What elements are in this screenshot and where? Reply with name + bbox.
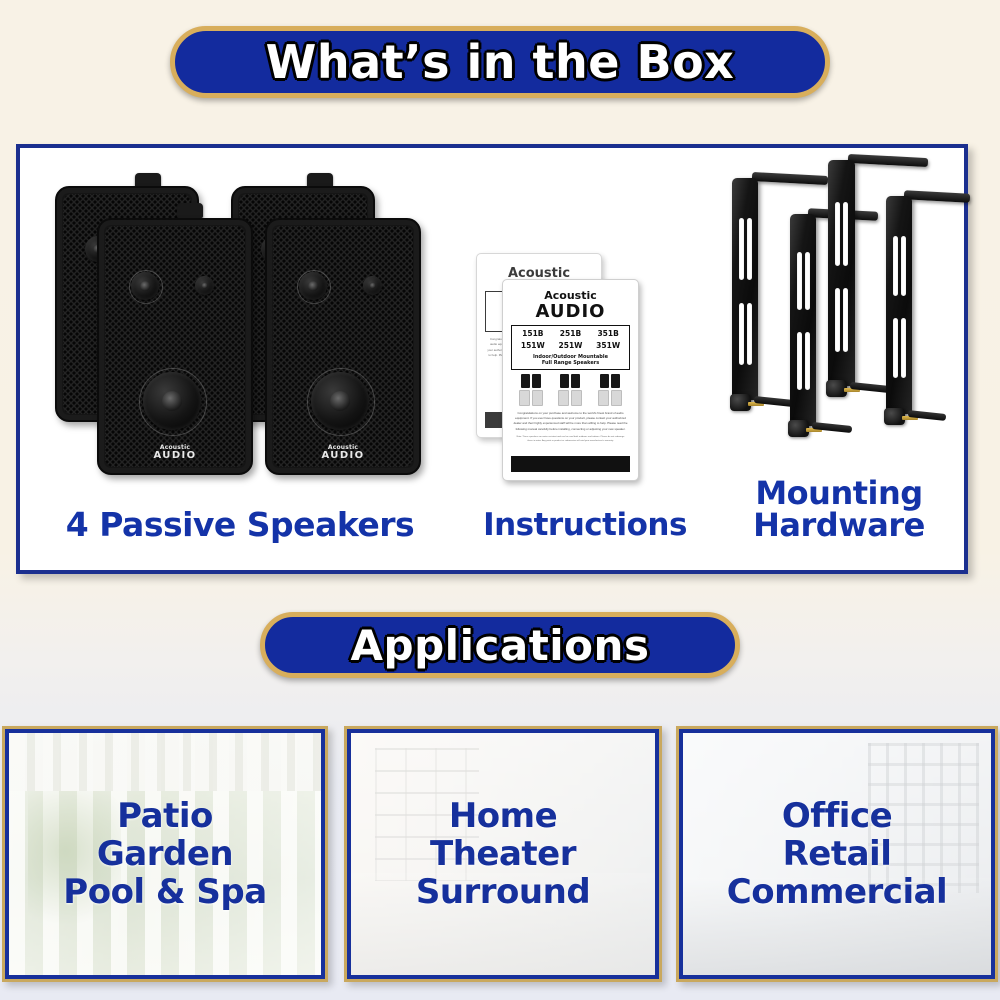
model-251w: 251W xyxy=(559,341,583,350)
model-151w: 151W xyxy=(521,341,545,350)
bracket-slot xyxy=(805,332,810,390)
sheet-brand-line2: AUDIO xyxy=(503,301,638,322)
model-151b: 151B xyxy=(522,329,543,338)
model-251b: 251B xyxy=(560,329,581,338)
bracket-arm xyxy=(904,190,970,202)
mini-speaker-icon xyxy=(519,390,530,406)
bracket-arm xyxy=(848,154,928,167)
bracket-slot xyxy=(797,332,802,390)
bracket-slot xyxy=(739,218,744,280)
speaker-woofer-ring xyxy=(307,368,375,436)
sheet-model-box: 151B 251B 351B 151W 251W 351W Indoor/Out… xyxy=(511,325,630,370)
application-home-line2: Theater xyxy=(416,835,590,873)
caption-mounting-hardware: Mounting Hardware xyxy=(710,477,968,542)
mini-speaker-icon xyxy=(600,374,609,388)
application-label-office: Office Retail Commercial xyxy=(727,797,947,911)
bracket-slot xyxy=(747,218,752,280)
applications-panels: Patio Garden Pool & Spa Home Theater Sur… xyxy=(0,726,1000,982)
sheet-speaker-diagram-row-white xyxy=(511,390,630,406)
application-patio-line1: Patio xyxy=(63,797,266,835)
whats-in-the-box-title: What’s in the Box xyxy=(266,35,735,89)
mounting-hardware-group: Mounting Hardware xyxy=(710,148,968,570)
model-351w: 351W xyxy=(596,341,620,350)
bracket-slot xyxy=(835,202,840,266)
applications-title: Applications xyxy=(351,621,650,670)
speaker-midrange-ring xyxy=(129,270,163,304)
mini-speaker-icon xyxy=(571,390,582,406)
sheet-speaker-pair xyxy=(519,390,543,406)
bracket-slot xyxy=(901,236,906,296)
application-panel-home-theater[interactable]: Home Theater Surround xyxy=(344,726,662,982)
mini-speaker-icon xyxy=(611,390,622,406)
speaker-unit: Acoustic AUDIO xyxy=(265,218,421,475)
application-office-line3: Commercial xyxy=(727,873,947,911)
instructions-group: Acoustic Congratulations on your purchas… xyxy=(460,148,710,570)
model-351b: 351B xyxy=(597,329,618,338)
instruction-sheet-front: Acoustic AUDIO 151B 251B 351B 151W 251W … xyxy=(502,279,639,481)
sheet-speaker-pair xyxy=(560,374,580,388)
sheet-speaker-pair xyxy=(600,374,620,388)
sheet-speaker-diagram-row-black xyxy=(511,374,630,388)
whats-in-the-box-banner: What’s in the Box xyxy=(170,26,830,98)
caption-mounting-line1: Mounting xyxy=(710,477,968,510)
application-office-line1: Office xyxy=(727,797,947,835)
sheet-note-text: Note: These speakers are water resistant… xyxy=(515,436,626,444)
bracket-arm xyxy=(752,172,828,185)
bracket-slot xyxy=(893,236,898,296)
application-label-home-theater: Home Theater Surround xyxy=(416,797,590,911)
sheet-model-row-w: 151W 251W 351W xyxy=(514,341,627,350)
mini-speaker-icon xyxy=(598,390,609,406)
sheet-speaker-pair xyxy=(521,374,541,388)
sheet-subtitle-line2: Full Range Speakers xyxy=(514,360,627,366)
bracket-slot xyxy=(901,318,906,378)
sheet-speaker-pair xyxy=(558,390,582,406)
bracket-slot xyxy=(739,303,744,365)
speaker-brand-logo: Acoustic AUDIO xyxy=(321,445,364,461)
application-home-line1: Home xyxy=(416,797,590,835)
speaker-mount-tab xyxy=(177,203,203,218)
sheet-speaker-pair xyxy=(598,390,622,406)
application-office-line2: Retail xyxy=(727,835,947,873)
caption-mounting-line2: Hardware xyxy=(710,509,968,542)
caption-passive-speakers-text: 4 Passive Speakers xyxy=(66,505,414,544)
bracket-slot xyxy=(797,252,802,310)
application-panel-inner: Office Retail Commercial xyxy=(679,729,995,979)
sheet-model-row-b: 151B 251B 351B xyxy=(514,329,627,338)
application-label-patio: Patio Garden Pool & Spa xyxy=(63,797,266,911)
application-patio-line2: Garden xyxy=(63,835,266,873)
bracket-plate xyxy=(790,214,816,426)
bracket-plate xyxy=(732,178,758,400)
bracket-slot xyxy=(843,202,848,266)
application-panel-inner: Home Theater Surround xyxy=(347,729,659,979)
mini-speaker-icon xyxy=(532,390,543,406)
mini-speaker-icon xyxy=(558,390,569,406)
bracket-slot xyxy=(747,303,752,365)
application-home-line3: Surround xyxy=(416,873,590,911)
caption-instructions-text: Instructions xyxy=(483,507,687,543)
mini-speaker-icon xyxy=(571,374,580,388)
applications-banner: Applications xyxy=(260,612,740,678)
bracket-slot xyxy=(893,318,898,378)
speaker-midrange-ring xyxy=(297,270,331,304)
speaker-brand-line2: AUDIO xyxy=(153,451,196,461)
caption-instructions: Instructions xyxy=(460,510,710,542)
mini-speaker-icon xyxy=(611,374,620,388)
mini-speaker-icon xyxy=(521,374,530,388)
passive-speakers-group: Acoustic AUDIO Acoustic AUDIO xyxy=(20,148,460,570)
mini-speaker-icon xyxy=(560,374,569,388)
bracket-slot xyxy=(805,252,810,310)
caption-passive-speakers: 4 Passive Speakers xyxy=(20,508,460,542)
speaker-brand-logo: Acoustic AUDIO xyxy=(153,445,196,461)
application-panel-office[interactable]: Office Retail Commercial xyxy=(676,726,998,982)
speaker-brand-line2: AUDIO xyxy=(321,451,364,461)
bracket-plate xyxy=(828,160,855,386)
speaker-tweeter xyxy=(363,276,382,295)
sheet-black-bar xyxy=(511,456,630,472)
speaker-unit: Acoustic AUDIO xyxy=(97,218,253,475)
speaker-tweeter xyxy=(195,276,214,295)
bracket-plate xyxy=(886,196,912,414)
box-contents-panel: Acoustic AUDIO Acoustic AUDIO xyxy=(16,144,968,574)
mini-speaker-icon xyxy=(532,374,541,388)
application-patio-line3: Pool & Spa xyxy=(63,873,266,911)
application-panel-patio[interactable]: Patio Garden Pool & Spa xyxy=(2,726,328,982)
bracket-slot xyxy=(835,288,840,352)
bracket-slot xyxy=(843,288,848,352)
sheet-body-paragraph: Congratulations on your purchase and wel… xyxy=(513,411,628,433)
speaker-woofer-ring xyxy=(139,368,207,436)
application-panel-inner: Patio Garden Pool & Spa xyxy=(5,729,325,979)
